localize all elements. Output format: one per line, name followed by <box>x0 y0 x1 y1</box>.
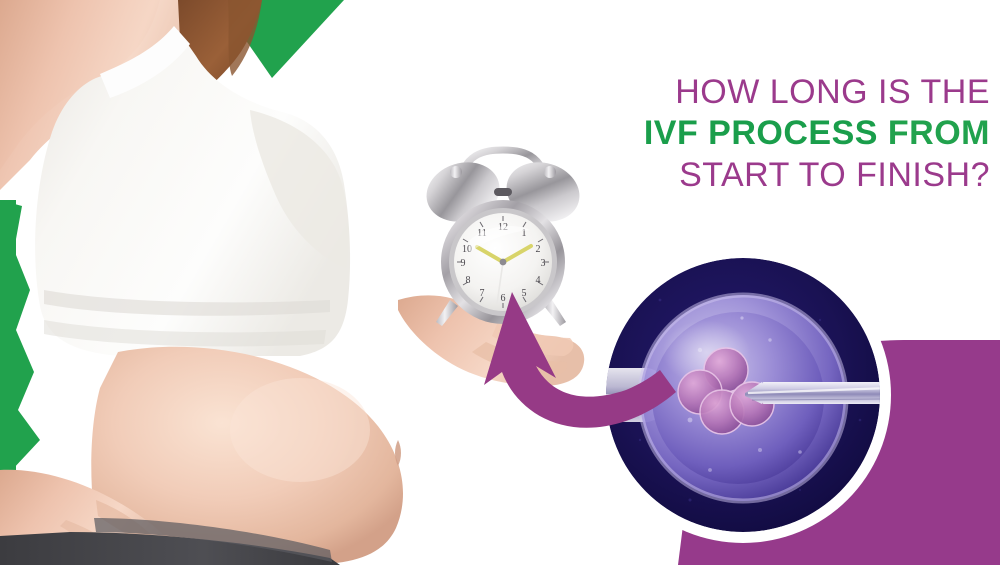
headline-line-1: HOW LONG IS THE <box>560 72 990 113</box>
headline: HOW LONG IS THE IVF PROCESS FROM START T… <box>560 72 990 196</box>
curved-arrow-shape <box>484 292 676 428</box>
headline-from: FROM <box>878 114 990 152</box>
headline-ivf-process: IVF PROCESS <box>644 114 878 152</box>
ivf-banner: 12 1 2 3 4 5 6 7 8 9 10 11 <box>0 0 1000 565</box>
headline-line-3: START TO FINISH? <box>560 155 990 196</box>
headline-line-2: IVF PROCESS FROM <box>560 113 990 154</box>
